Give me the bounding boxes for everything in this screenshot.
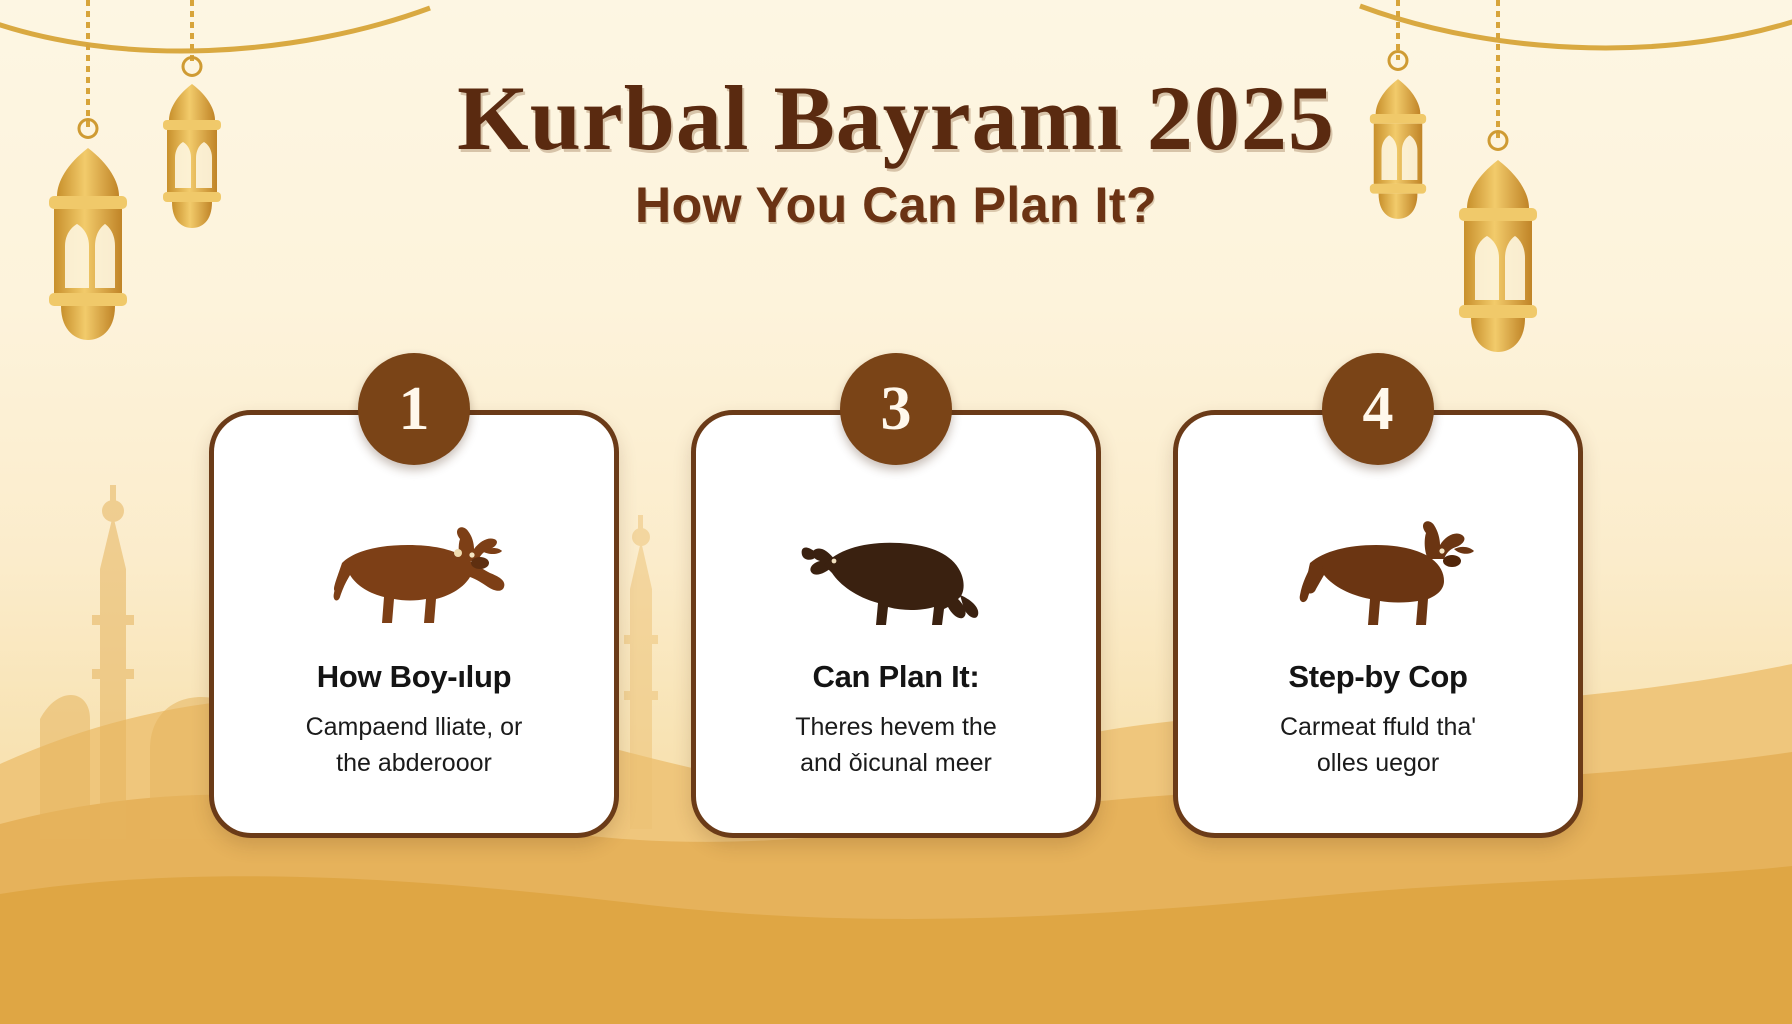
step-number-badge: 3 bbox=[840, 353, 952, 465]
bull-icon bbox=[214, 503, 614, 643]
step-card-1[interactable]: 1 How Boy-ılup Campaend lliate, or bbox=[209, 410, 619, 838]
step-card-3[interactable]: 4 Step-by Cop Carmeat ffuld tha' olles u… bbox=[1173, 410, 1583, 838]
page-title: Kurbal Bayramı 2025 bbox=[0, 0, 1792, 164]
step-card-2[interactable]: 3 Can Plan It: Theres hevem the and ǒicu… bbox=[691, 410, 1101, 838]
card-body: Campaend lliate, or the abderooor bbox=[249, 709, 579, 782]
card-title: Step-by Cop bbox=[1288, 659, 1467, 695]
step-number-badge: 4 bbox=[1322, 353, 1434, 465]
card-body: Carmeat ffuld tha' olles uegor bbox=[1213, 709, 1543, 782]
card-body-line: and ǒicunal meer bbox=[731, 745, 1061, 781]
card-title: How Boy-ılup bbox=[317, 659, 511, 695]
cow-icon bbox=[1178, 503, 1578, 643]
buffalo-icon bbox=[696, 503, 1096, 643]
card-body-line: Carmeat ffuld tha' bbox=[1213, 709, 1543, 745]
step-number-badge: 1 bbox=[358, 353, 470, 465]
card-body-line: the abderooor bbox=[249, 745, 579, 781]
poster-canvas: Kurbal Bayramı 2025 How You Can Plan It?… bbox=[0, 0, 1792, 1024]
page-subtitle: How You Can Plan It? bbox=[0, 180, 1792, 230]
card-body-line: olles uegor bbox=[1213, 745, 1543, 781]
card-title: Can Plan It: bbox=[813, 659, 980, 695]
card-body-line: Theres hevem the bbox=[731, 709, 1061, 745]
poster-header: Kurbal Bayramı 2025 How You Can Plan It? bbox=[0, 0, 1792, 230]
card-body-line: Campaend lliate, or bbox=[249, 709, 579, 745]
steps-card-row: 1 How Boy-ılup Campaend lliate, or bbox=[0, 410, 1792, 838]
card-body: Theres hevem the and ǒicunal meer bbox=[731, 709, 1061, 782]
